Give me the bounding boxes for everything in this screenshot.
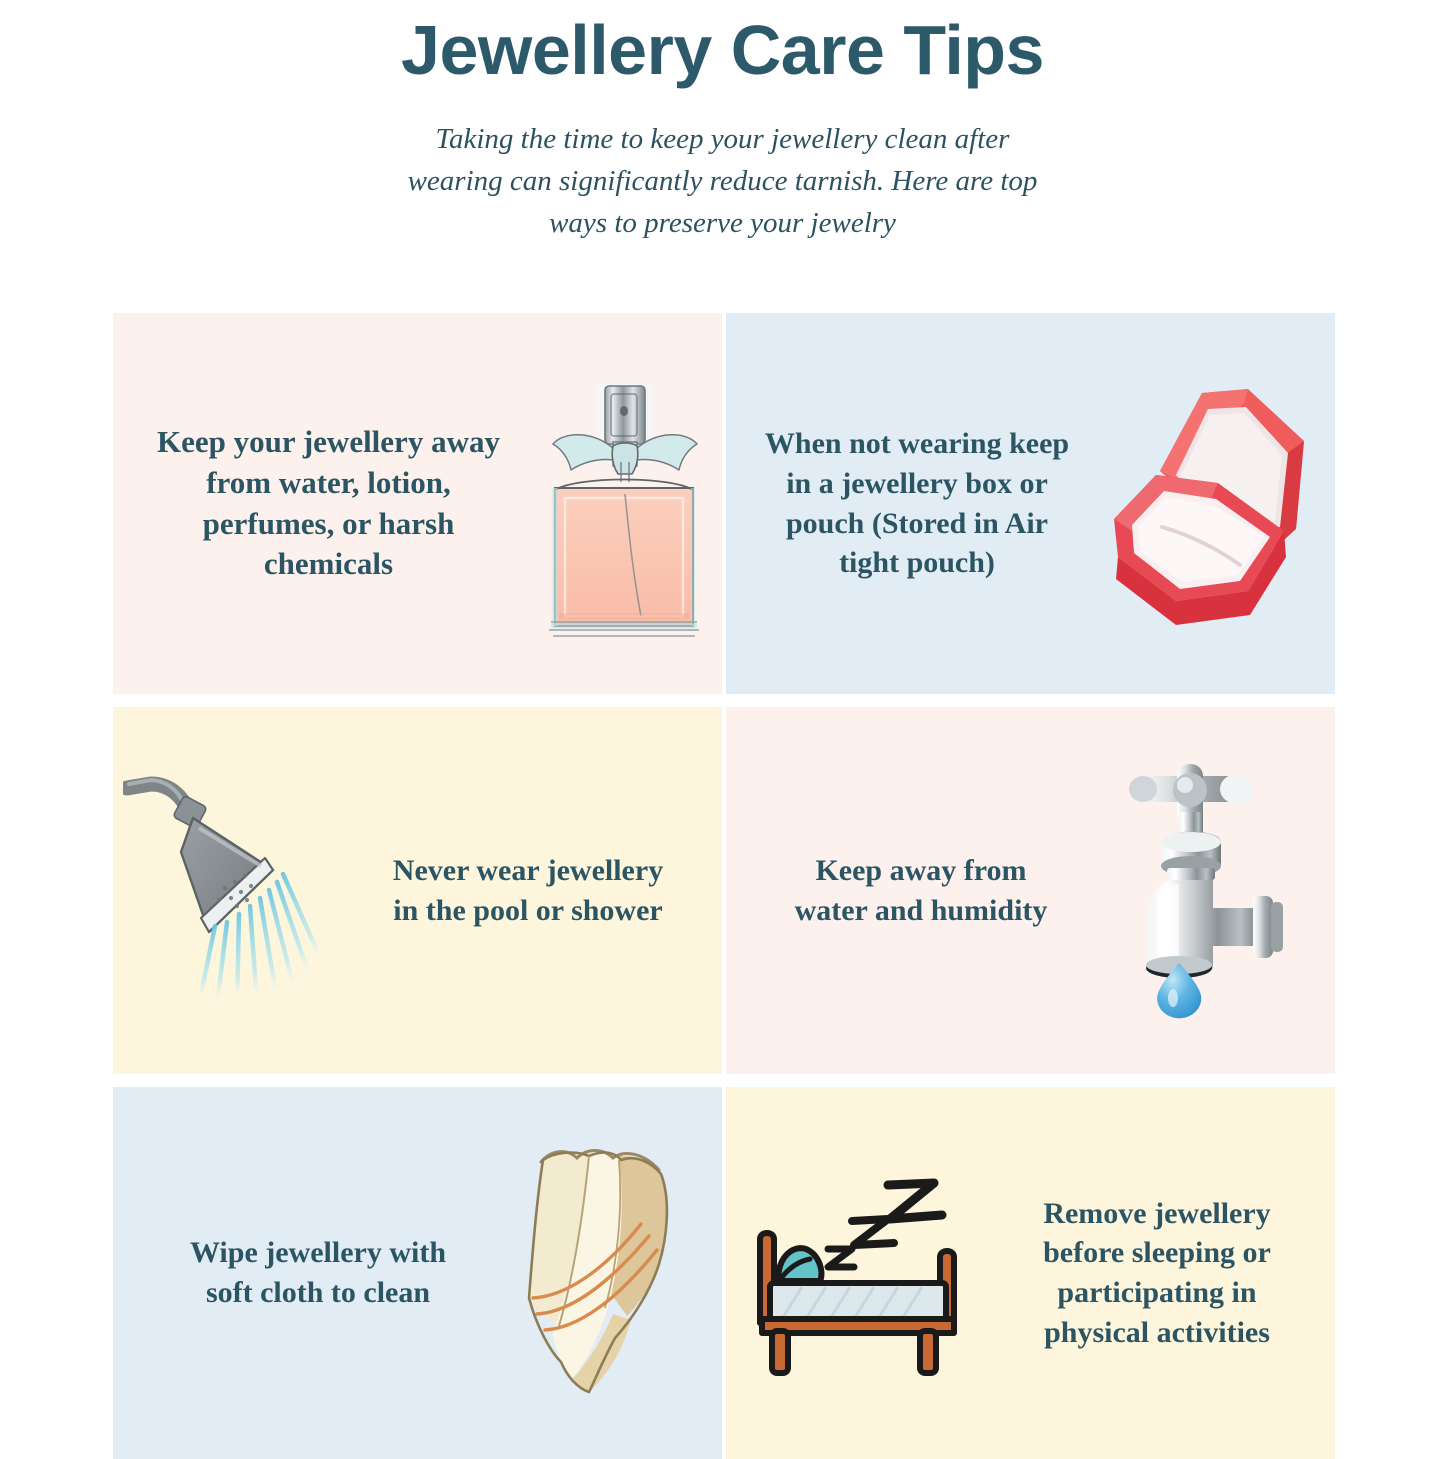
care-tip-card-storage: When not wearing keep in a jewellery box…	[726, 313, 1335, 694]
care-tip-text: When not wearing keep in a jewellery box…	[748, 424, 1086, 582]
page-header: Jewellery Care Tips Taking the time to k…	[0, 0, 1445, 244]
care-tip-card-sleep-activity: Remove jewellery before sleeping or part…	[726, 1087, 1335, 1459]
page-title: Jewellery Care Tips	[0, 8, 1445, 92]
care-tip-card-pool-shower: Never wear jewellery in the pool or show…	[113, 707, 722, 1074]
infographic-page: Jewellery Care Tips Taking the time to k…	[0, 0, 1445, 1445]
care-tip-card-chemicals: Keep your jewellery away from water, lot…	[113, 313, 722, 694]
page-subtitle: Taking the time to keep your jewellery c…	[393, 118, 1053, 244]
tips-grid: Keep your jewellery away from water, lot…	[113, 313, 1335, 1459]
perfume-bottle-icon	[526, 313, 722, 694]
ring-box-icon	[1086, 313, 1335, 694]
bed-sleeping-icon	[726, 1087, 1019, 1459]
shower-head-icon	[113, 707, 368, 1074]
care-tip-text: Keep your jewellery away from water, lot…	[131, 422, 526, 586]
care-tip-card-wipe-cloth: Wipe jewellery with soft cloth to clean	[113, 1087, 722, 1459]
care-tip-text: Wipe jewellery with soft cloth to clean	[153, 1233, 483, 1312]
polishing-cloth-icon	[483, 1087, 722, 1459]
faucet-drip-icon	[1066, 707, 1335, 1074]
care-tip-text: Keep away from water and humidity	[776, 851, 1066, 930]
care-tip-text: Never wear jewellery in the pool or show…	[368, 851, 688, 930]
care-tip-text: Remove jewellery before sleeping or part…	[1019, 1194, 1295, 1352]
care-tip-card-humidity: Keep away from water and humidity	[726, 707, 1335, 1074]
